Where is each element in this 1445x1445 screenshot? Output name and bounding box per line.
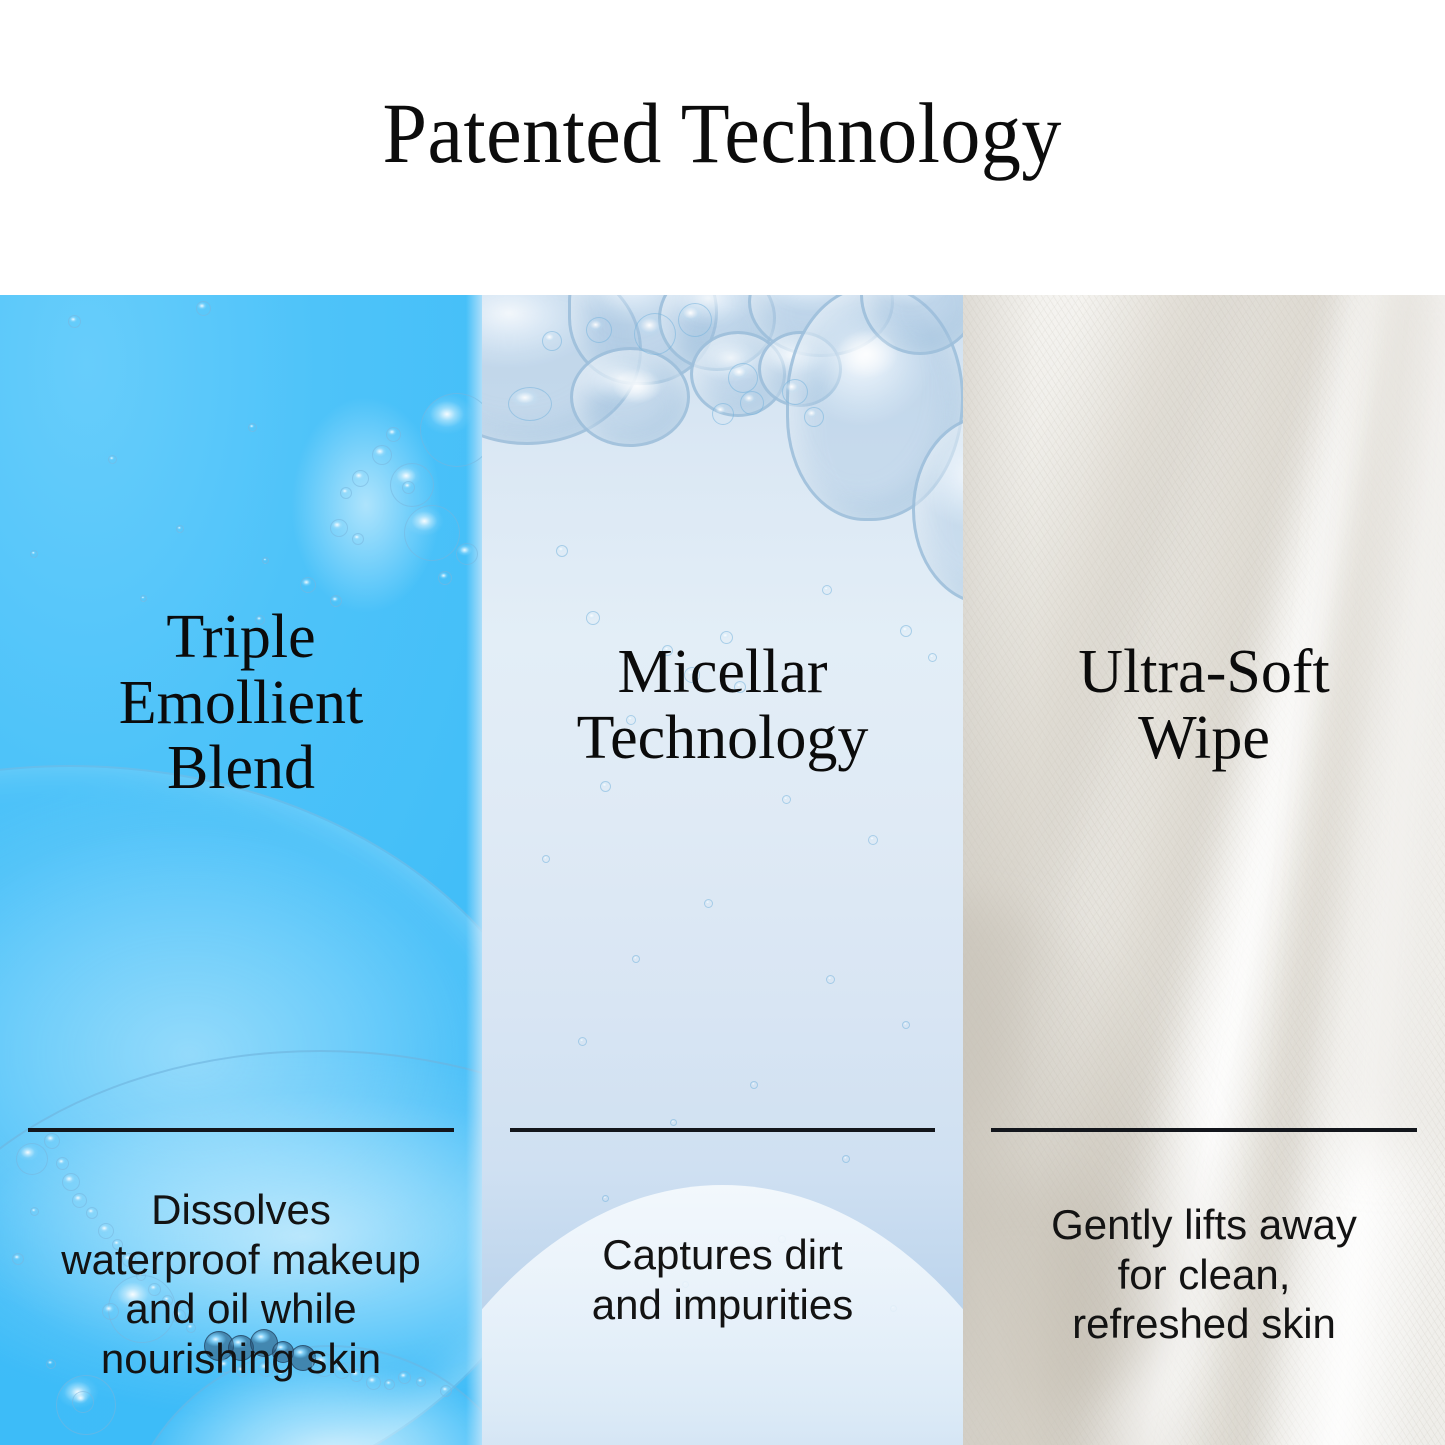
header-band: Patented Technology	[0, 0, 1445, 295]
panel-heading-ultra-soft-wipe: Ultra-Soft Wipe	[963, 640, 1445, 771]
panel-1-content: Triple Emollient Blend	[0, 295, 482, 1445]
panel-heading-triple-emollient-blend: Triple Emollient Blend	[0, 605, 482, 802]
feature-panel-row: Triple Emollient Blend Dissolves waterpr…	[0, 295, 1445, 1445]
panel-triple-emollient-blend: Triple Emollient Blend Dissolves waterpr…	[0, 295, 482, 1445]
panel-3-content: Ultra-Soft Wipe	[963, 295, 1445, 1445]
panel-heading-micellar-technology: Micellar Technology	[482, 640, 963, 771]
page-title: Patented Technology	[383, 90, 1062, 176]
patented-technology-infographic: Patented Technology	[0, 0, 1445, 1445]
panel-ultra-soft-wipe: Ultra-Soft Wipe Gently lifts away for cl…	[963, 295, 1445, 1445]
panel-2-content: Micellar Technology	[482, 295, 963, 1445]
panel-micellar-technology: Micellar Technology Captures dirt and im…	[482, 295, 963, 1445]
